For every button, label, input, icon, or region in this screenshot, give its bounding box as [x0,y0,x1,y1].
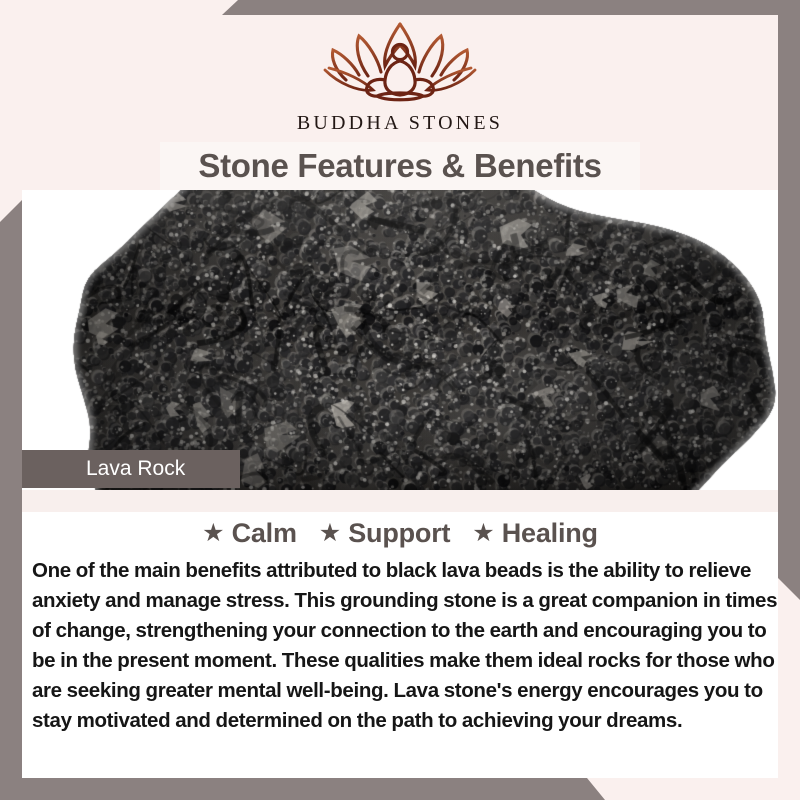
frame-accent-bottom-left [0,778,605,800]
benefit-item-support: ★ Support [319,518,451,549]
lotus-meditation-figure-icon [315,18,485,110]
benefit-label-calm: Calm [232,518,297,549]
page-title: Stone Features & Benefits [198,147,601,185]
brand-logo: BUDDHA STONES [0,18,800,135]
star-icon: ★ [319,521,341,546]
photo-under-strip [22,490,778,512]
poster: BUDDHA STONES Stone Features & Benefits … [0,0,800,800]
brand-name: BUDDHA STONES [0,112,800,135]
hero-image [22,190,778,490]
benefit-label-healing: Healing [502,518,598,549]
title-banner: Stone Features & Benefits [160,142,640,190]
frame-accent-left [0,200,22,800]
star-icon: ★ [202,521,224,546]
body-paragraph: One of the main benefits attributed to b… [32,556,784,736]
frame-accent-top-right [222,0,800,15]
lava-rock-photo [22,190,778,490]
image-caption-label: Lava Rock [22,457,185,481]
benefit-item-healing: ★ Healing [472,518,598,549]
image-caption-bar: Lava Rock [22,450,240,488]
benefit-item-calm: ★ Calm [202,518,297,549]
star-icon: ★ [472,521,494,546]
benefits-row: ★ Calm ★ Support ★ Healing [0,518,800,549]
benefit-label-support: Support [348,518,450,549]
